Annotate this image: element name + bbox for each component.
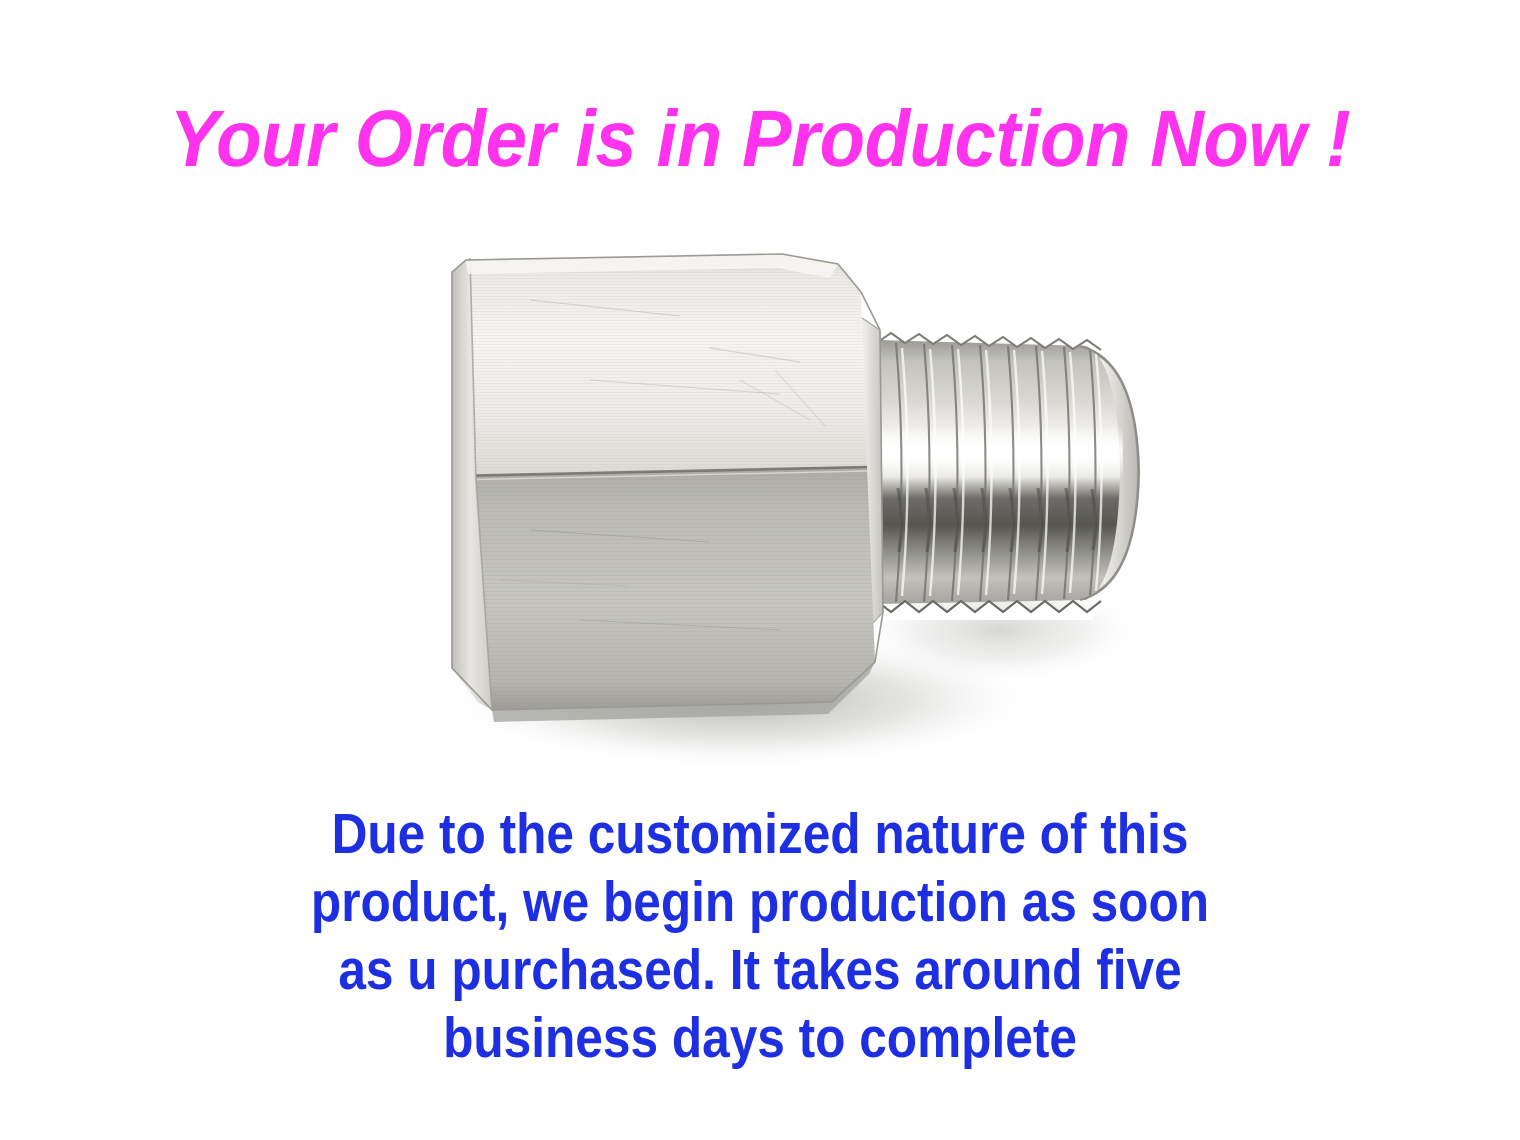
notice-line-3: as u purchased. It takes around five bbox=[99, 936, 1421, 1004]
threaded-nipple bbox=[875, 329, 1139, 620]
page-title: Your Order is in Production Now ! bbox=[53, 96, 1467, 182]
product-photo bbox=[380, 230, 1200, 810]
hex-body bbox=[440, 250, 890, 722]
pipe-fitting-photo bbox=[380, 230, 1200, 810]
notice-line-2: product, we begin production as soon bbox=[99, 868, 1421, 936]
promo-banner: Your Order is in Production Now ! bbox=[0, 0, 1520, 1140]
notice-line-1: Due to the customized nature of this bbox=[99, 800, 1421, 868]
production-notice: Due to the customized nature of this pro… bbox=[99, 800, 1421, 1072]
notice-line-4: business days to complete bbox=[99, 1004, 1421, 1072]
